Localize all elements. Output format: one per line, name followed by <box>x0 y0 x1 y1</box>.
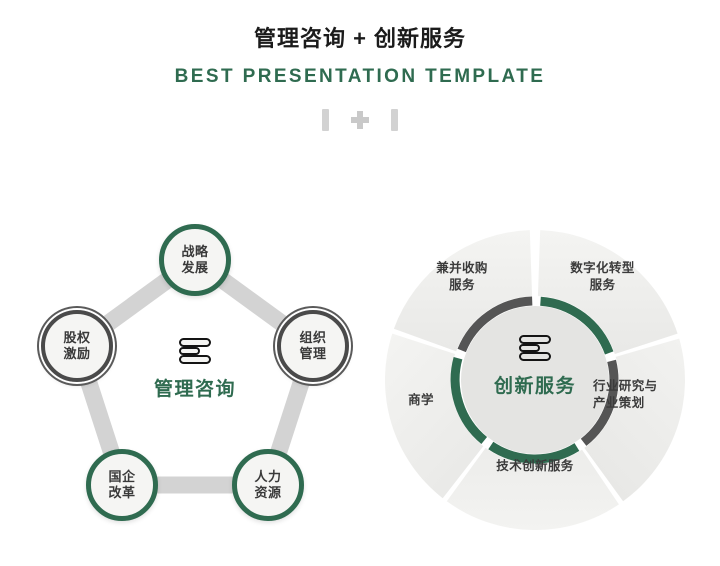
management-consulting-diagram: 战略 发展 组织 管理 人力 资源 国企 改革 股权 激励 管理咨询 <box>30 220 360 540</box>
donut-center-label: 创新服务 <box>460 371 610 398</box>
segment-mna-label: 兼并收购 服务 <box>407 260 517 294</box>
pentagon-center: 管理咨询 <box>125 338 265 401</box>
node-soe-reform-label: 国企 改革 <box>108 469 135 502</box>
segment-technology-label: 技术创新服务 <box>470 458 600 475</box>
node-soe-reform[interactable]: 国企 改革 <box>86 449 158 521</box>
node-equity-incentive[interactable]: 股权 激励 <box>41 310 113 382</box>
separator-right-bar-icon <box>391 109 398 131</box>
pentagon-center-label: 管理咨询 <box>125 374 265 401</box>
separator-plus-icon <box>351 111 369 129</box>
node-organization-label: 组织 管理 <box>299 330 326 363</box>
header: 管理咨询 + 创新服务 BEST PRESENTATION TEMPLATE <box>0 0 720 133</box>
stacked-bars-icon <box>178 338 212 364</box>
segment-digital-label: 数字化转型 服务 <box>545 260 660 294</box>
separator-left-bar-icon <box>322 109 329 131</box>
node-equity-incentive-label: 股权 激励 <box>63 330 90 363</box>
page-subtitle: BEST PRESENTATION TEMPLATE <box>0 66 720 89</box>
segment-business-school-label: 商学 <box>391 392 451 409</box>
separator <box>0 107 720 133</box>
node-strategy[interactable]: 战略 发展 <box>159 224 231 296</box>
node-human-resources-label: 人力 资源 <box>254 469 281 502</box>
innovation-services-diagram: 创新服务 兼并收购 服务 数字化转型 服务 行业研究与 产业策划 技术创新服务 … <box>385 230 685 530</box>
node-human-resources[interactable]: 人力 资源 <box>232 449 304 521</box>
diagram-stage: 战略 发展 组织 管理 人力 资源 国企 改革 股权 激励 管理咨询 <box>0 175 720 566</box>
node-organization[interactable]: 组织 管理 <box>277 310 349 382</box>
segment-industry-research-label: 行业研究与 产业策划 <box>593 378 693 412</box>
stacked-bars-icon <box>518 335 552 361</box>
node-strategy-label: 战略 发展 <box>181 244 208 277</box>
donut-center: 创新服务 <box>460 335 610 398</box>
page-title: 管理咨询 + 创新服务 <box>0 26 720 52</box>
